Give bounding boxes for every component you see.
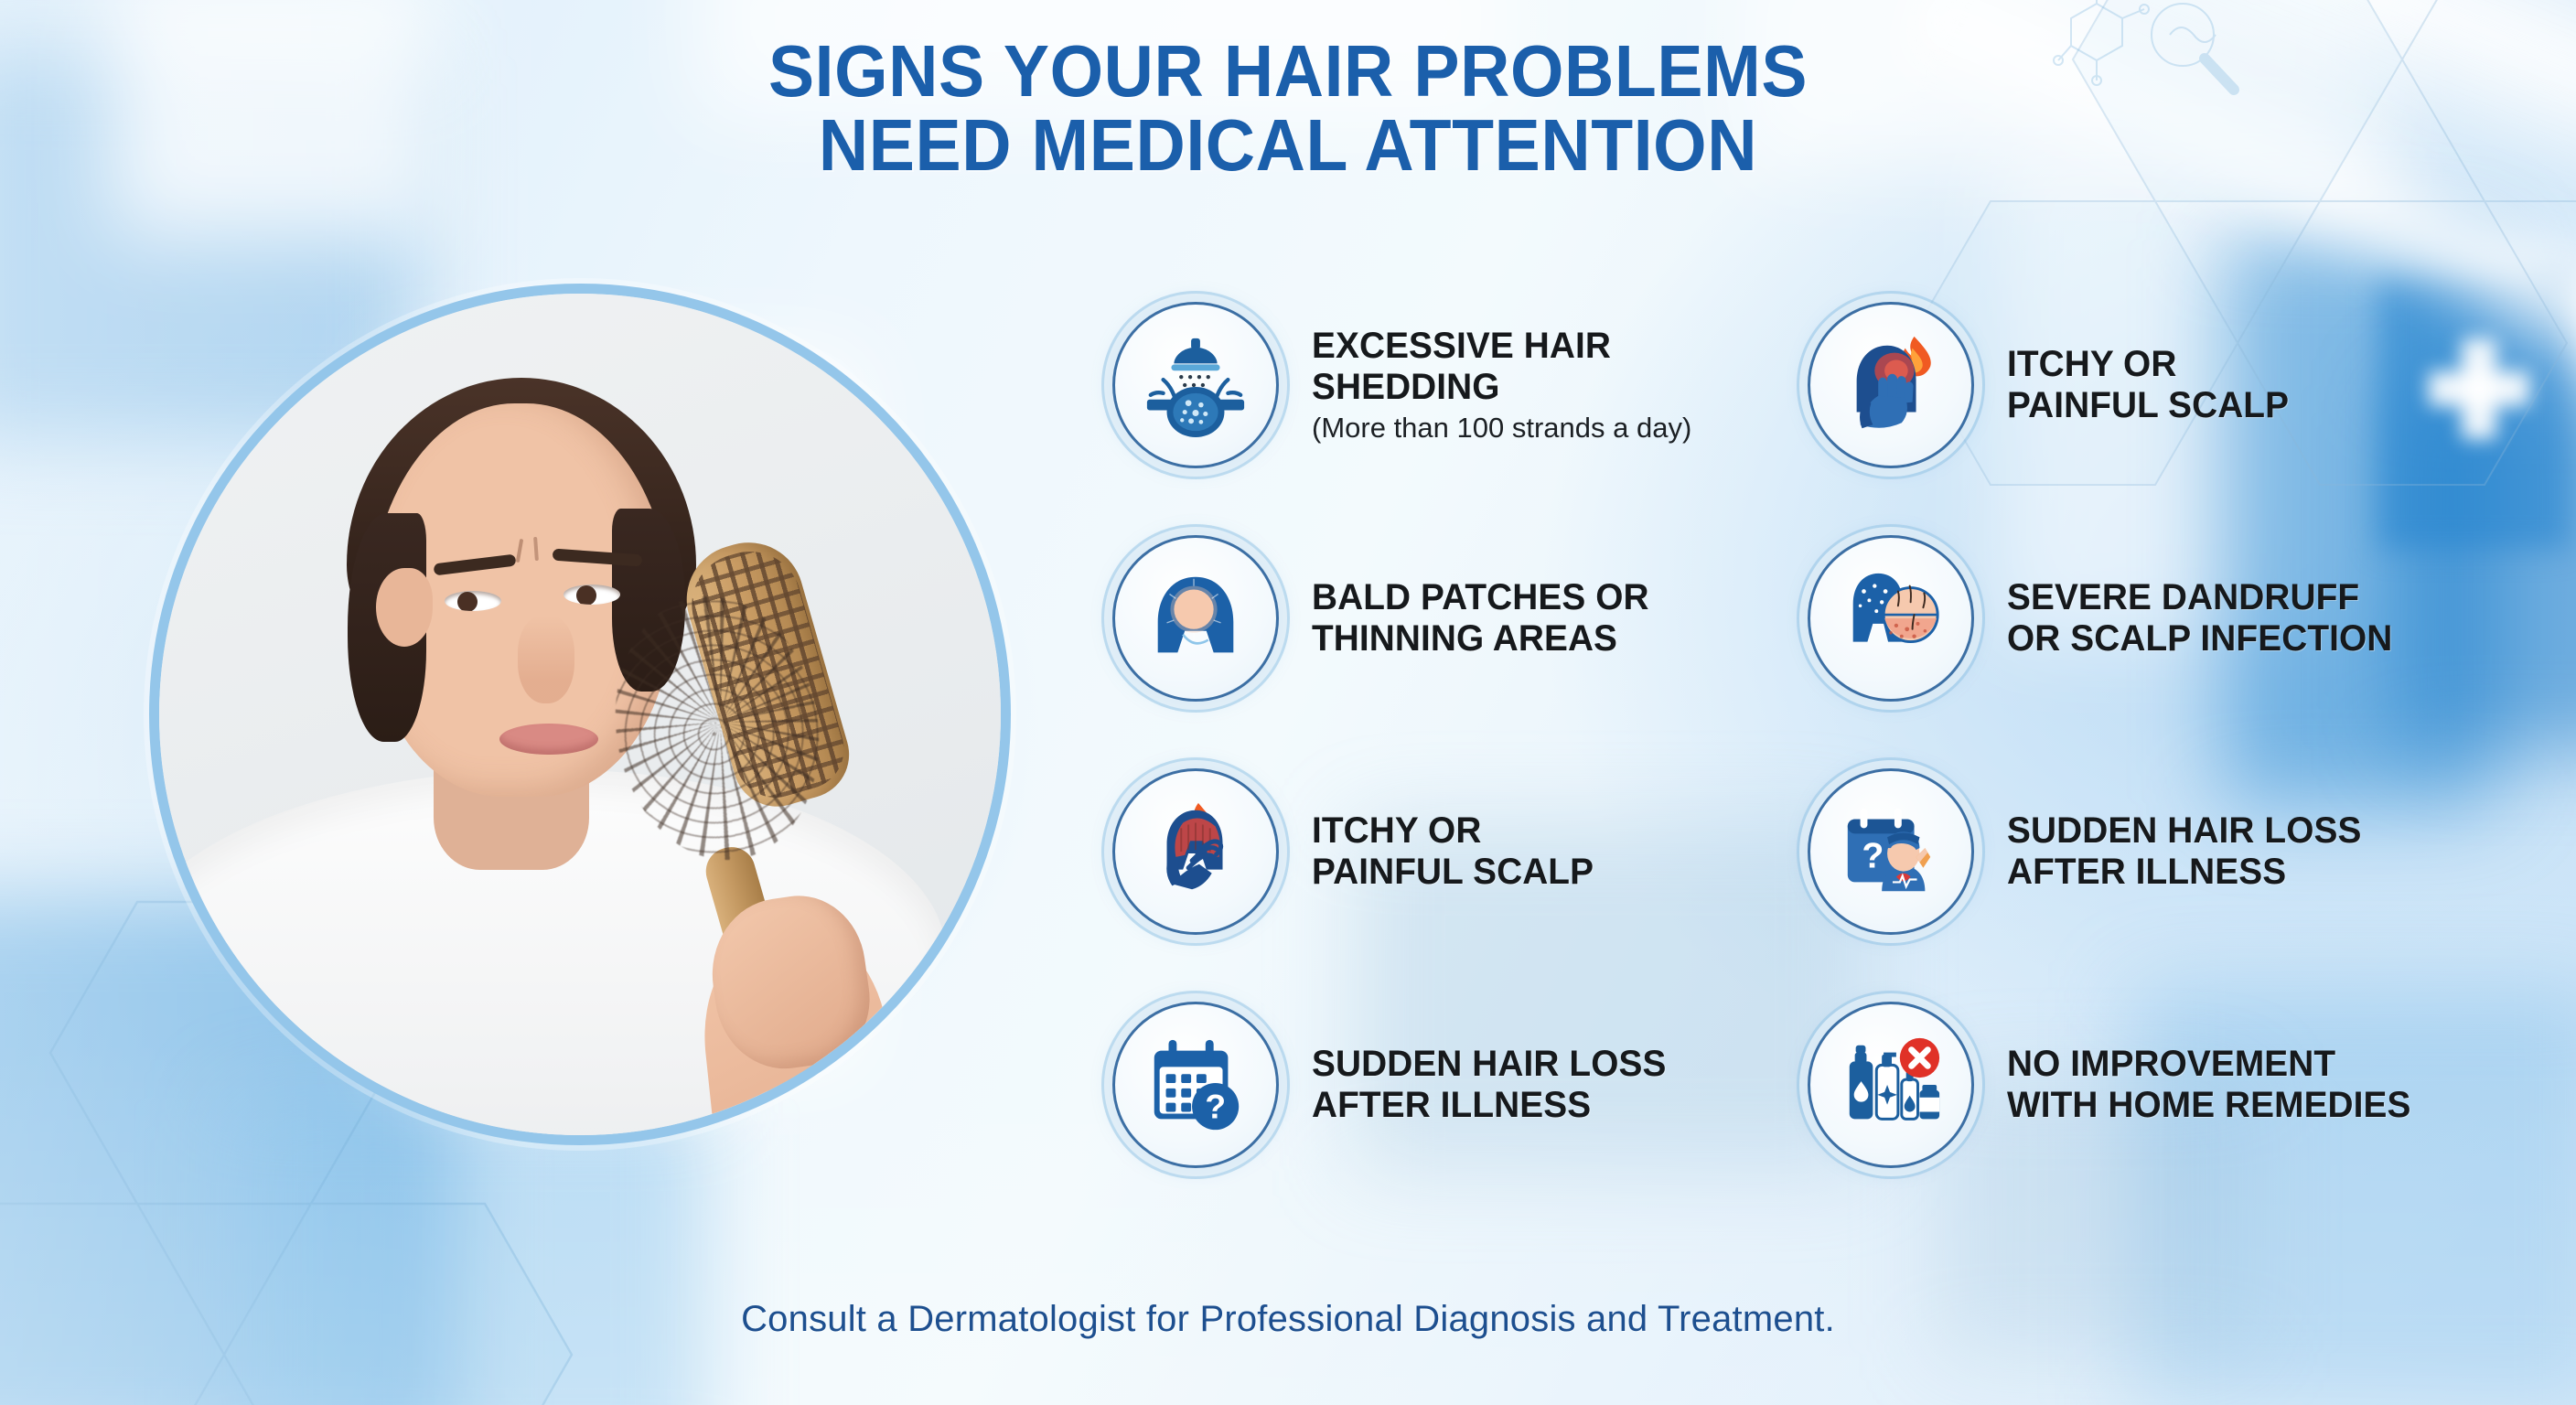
svg-text:?: ?	[1862, 836, 1884, 876]
list-item-title: EXCESSIVE HAIR SHEDDING	[1312, 326, 1680, 408]
hero-photo	[149, 284, 1011, 1145]
infographic-canvas: SIGNS YOUR HAIR PROBLEMS NEED MEDICAL AT…	[0, 0, 2576, 1405]
dandruff-scalp-magnify-icon	[1808, 535, 1974, 702]
list-item-subtitle: (More than 100 strands a day)	[1312, 411, 1691, 445]
list-item[interactable]: BALD PATCHES OR THINNING AREAS	[1112, 535, 1659, 702]
list-item[interactable]: ? SUDDEN HAIR LOSS AFTER ILLNESS	[1112, 1002, 1677, 1168]
list-item-text: NO IMPROVEMENT WITH HOME REMEDIES	[2007, 1044, 2423, 1126]
calendar-question-icon: ?	[1112, 1002, 1279, 1168]
shower-hair-follicle-icon	[1112, 302, 1279, 468]
list-item-text: SEVERE DANDRUFF OR SCALP INFECTION	[2007, 577, 2404, 660]
list-item-title: BALD PATCHES OR THINNING AREAS	[1312, 577, 1649, 660]
hair-products-cross-icon	[1808, 1002, 1974, 1168]
list-item-title: SEVERE DANDRUFF OR SCALP INFECTION	[2007, 577, 2392, 660]
list-item-text: ITCHY OR PAINFUL SCALP	[1312, 810, 1603, 893]
list-item[interactable]: SEVERE DANDRUFF OR SCALP INFECTION	[1808, 535, 2404, 702]
list-item-title: SUDDEN HAIR LOSS AFTER ILLNESS	[1312, 1044, 1666, 1126]
title-line-2: NEED MEDICAL ATTENTION	[77, 109, 2498, 183]
title-line-1: SIGNS YOUR HAIR PROBLEMS	[77, 35, 2498, 109]
list-item[interactable]: ? SUDDEN HAIR LOSS AFTER ILLNESS	[1808, 768, 2372, 935]
list-item-text: EXCESSIVE HAIR SHEDDING (More than 100 s…	[1312, 326, 1691, 445]
list-item[interactable]: ITCHY OR PAINFUL SCALP	[1808, 302, 2298, 468]
list-item-title: SUDDEN HAIR LOSS AFTER ILLNESS	[2007, 810, 2361, 893]
itchy-scalp-flame-icon	[1112, 768, 1279, 935]
svg-text:?: ?	[1205, 1087, 1226, 1125]
list-item-title: NO IMPROVEMENT WITH HOME REMEDIES	[2007, 1044, 2410, 1126]
list-item-text: SUDDEN HAIR LOSS AFTER ILLNESS	[2007, 810, 2372, 893]
list-item[interactable]: ITCHY OR PAINFUL SCALP	[1112, 768, 1603, 935]
bald-patch-head-icon	[1112, 535, 1279, 702]
photo-illustration	[159, 294, 1001, 1135]
list-item[interactable]: EXCESSIVE HAIR SHEDDING (More than 100 s…	[1112, 302, 1691, 468]
footer-note: Consult a Dermatologist for Professional…	[0, 1299, 2576, 1340]
scratching-hand-flame-icon	[1808, 302, 1974, 468]
list-item-title: ITCHY OR PAINFUL SCALP	[2007, 344, 2289, 426]
list-item-title: ITCHY OR PAINFUL SCALP	[1312, 810, 1594, 893]
list-item[interactable]: NO IMPROVEMENT WITH HOME REMEDIES	[1808, 1002, 2423, 1168]
page-title: SIGNS YOUR HAIR PROBLEMS NEED MEDICAL AT…	[0, 35, 2576, 183]
list-item-text: ITCHY OR PAINFUL SCALP	[2007, 344, 2298, 426]
calendar-sick-person-icon: ?	[1808, 768, 1974, 935]
list-item-text: BALD PATCHES OR THINNING AREAS	[1312, 577, 1659, 660]
list-item-text: SUDDEN HAIR LOSS AFTER ILLNESS	[1312, 1044, 1677, 1126]
